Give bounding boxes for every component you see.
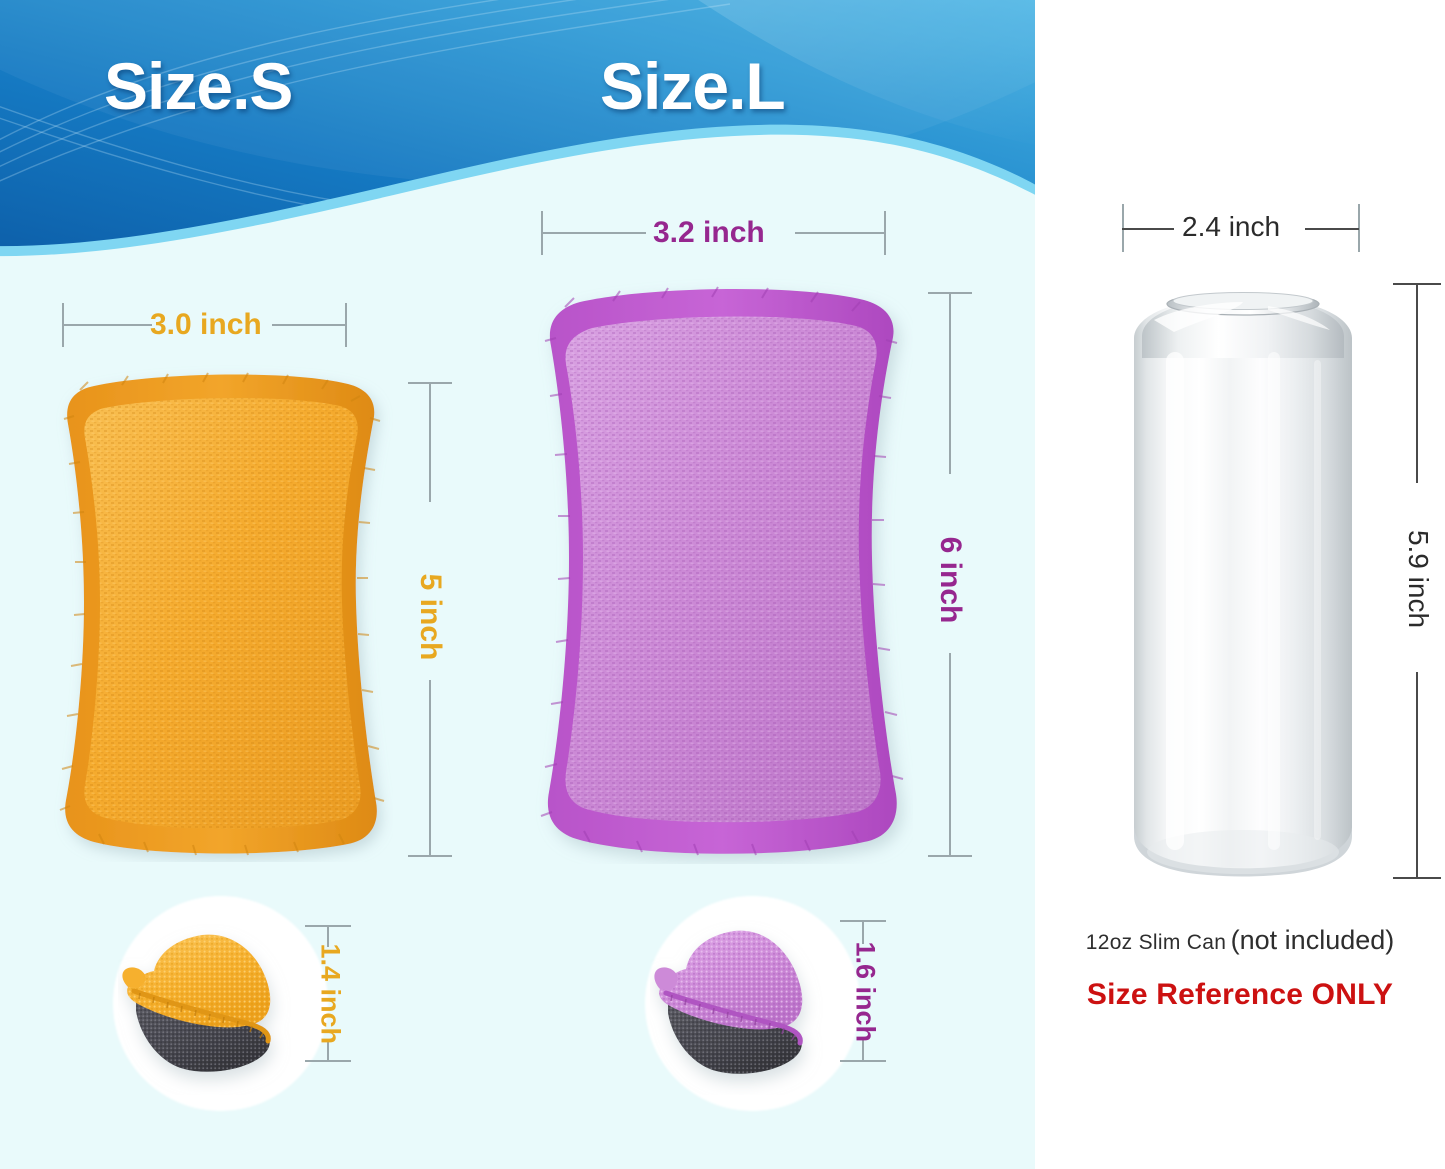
can-caption-suffix: (not included) <box>1231 925 1395 955</box>
small-sponge-thickness-image <box>118 915 333 1095</box>
size-comparison-infographic: Size.S Size.L 3.0 inch 5 inch <box>0 0 1445 1169</box>
can-height-label: 5.9 inch <box>1402 529 1434 629</box>
can-caption-row: 12oz Slim Can (not included) <box>1035 925 1445 956</box>
small-sponge-image <box>48 362 393 862</box>
large-sponge-image <box>528 276 913 864</box>
size-reference-disclaimer: Size Reference ONLY <box>1035 978 1445 1012</box>
size-large-title: Size.L <box>600 48 785 124</box>
large-sponge-thickness-image <box>650 915 865 1095</box>
small-sponge-height-label: 5 inch <box>413 567 447 667</box>
can-width-label: 2.4 inch <box>1182 211 1280 243</box>
large-sponge-width-label: 3.2 inch <box>653 216 765 250</box>
small-sponge-width-label: 3.0 inch <box>150 308 262 342</box>
small-sponge-thickness-label: 1.4 inch <box>315 944 346 1044</box>
large-sponge-height-label: 6 inch <box>933 530 967 630</box>
header-banner: Size.S Size.L <box>0 0 1035 258</box>
size-small-title: Size.S <box>104 48 292 124</box>
large-sponge-thickness-label: 1.6 inch <box>850 942 881 1042</box>
can-caption-prefix: 12oz Slim Can <box>1086 931 1226 954</box>
slim-can-image <box>1118 280 1368 880</box>
